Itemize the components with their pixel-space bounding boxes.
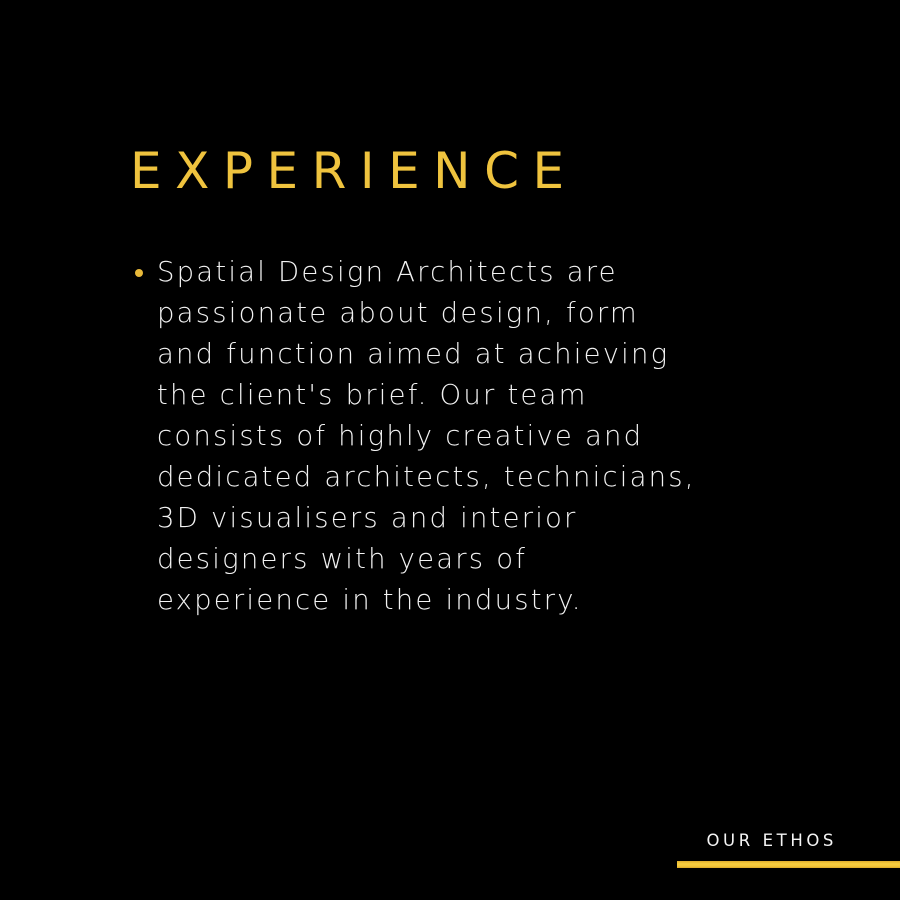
bullet-list-item: Spatial Design Architects are passionate… bbox=[132, 252, 852, 621]
footer-accent-rule bbox=[677, 861, 900, 868]
body-paragraph: Spatial Design Architects are passionate… bbox=[132, 252, 852, 621]
body-content: Spatial Design Architects are passionate… bbox=[132, 252, 852, 621]
bullet-dot-icon bbox=[135, 269, 143, 277]
slide-canvas: EXPERIENCE Spatial Design Architects are… bbox=[0, 0, 900, 900]
page-title: EXPERIENCE bbox=[130, 146, 578, 196]
footer: OUR ETHOS bbox=[640, 830, 900, 852]
footer-label: OUR ETHOS bbox=[640, 830, 900, 852]
